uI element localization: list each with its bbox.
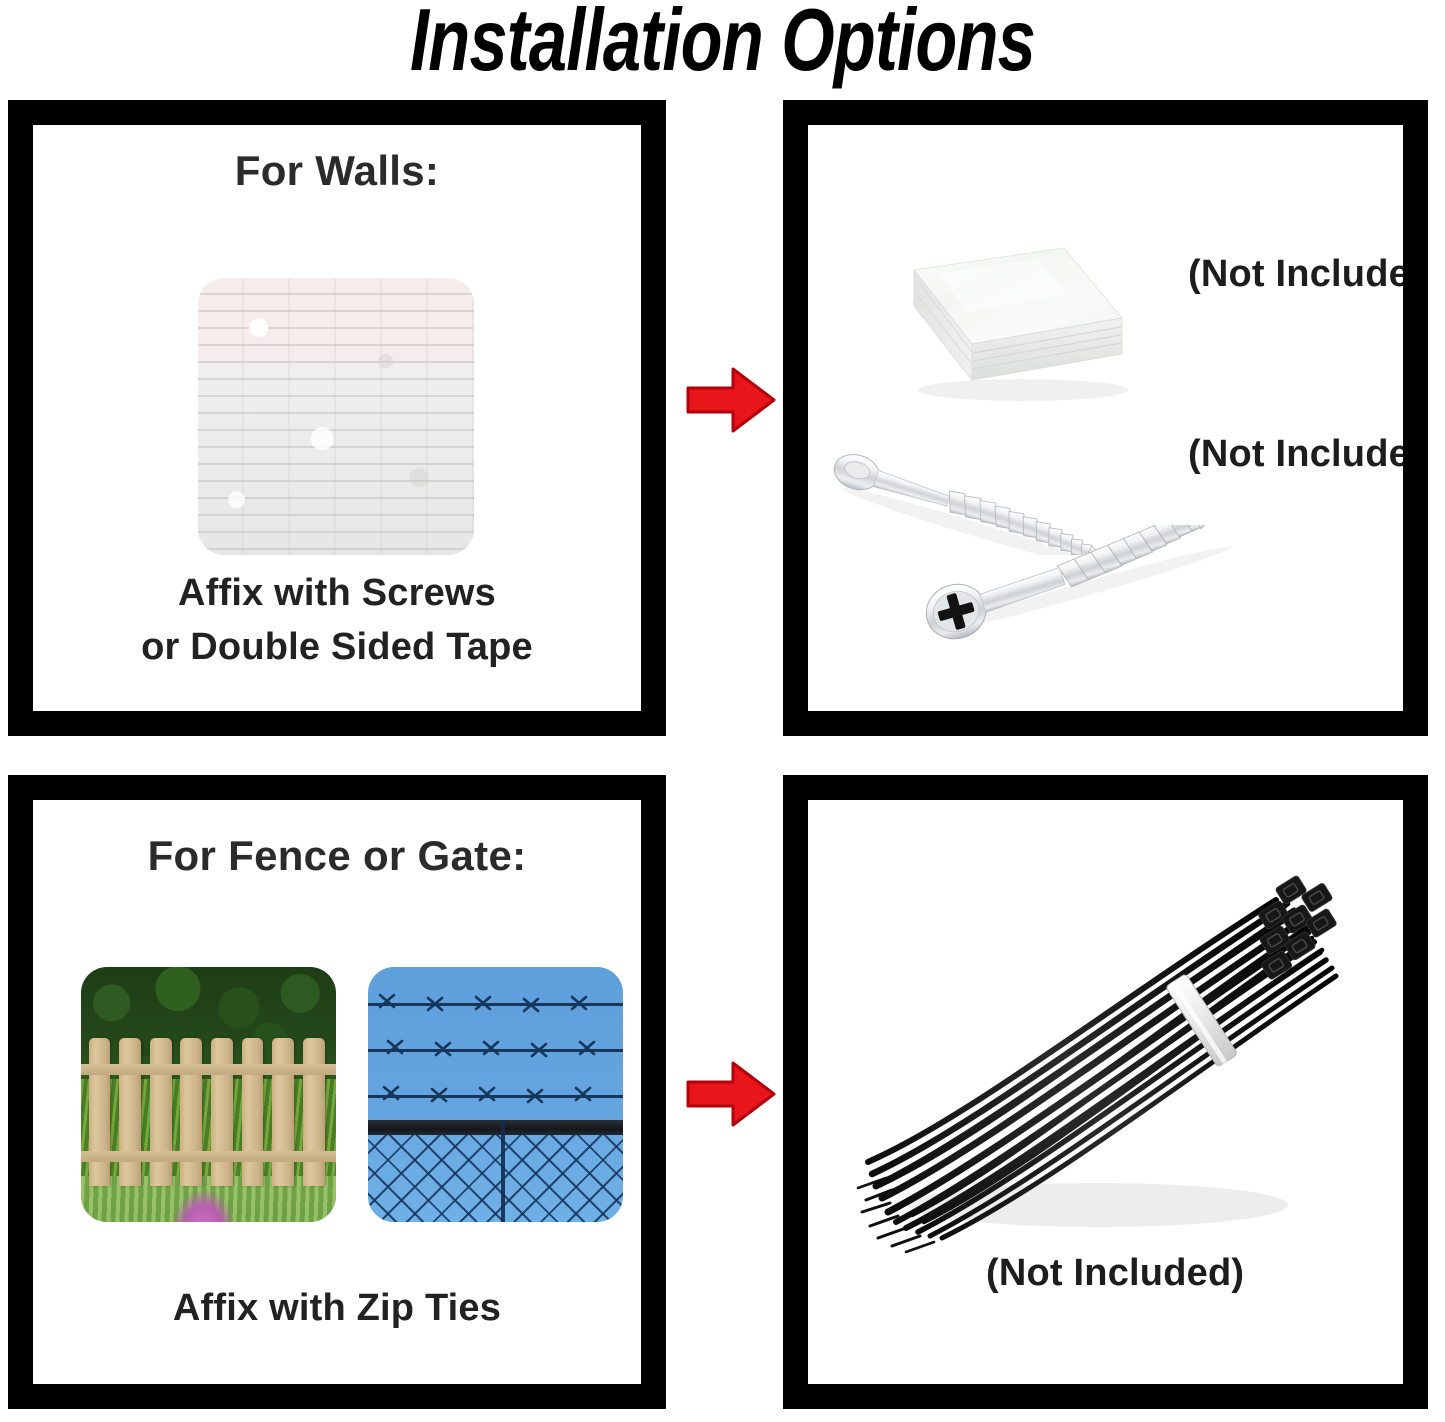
panel-zip-ties-inner: (Not Included): [808, 800, 1403, 1384]
wooden-picket-fence-image: [81, 967, 336, 1222]
installation-options-infographic: Installation Options For Walls: Affix wi…: [0, 0, 1445, 1422]
tape-not-included-label: (Not Included): [1188, 253, 1403, 296]
fence-picket: [211, 1038, 233, 1186]
fence-picket: [180, 1038, 202, 1186]
panel-wall-hardware-inner: (Not Included): [808, 125, 1403, 711]
panel-for-walls-inner: For Walls: Affix with Screws or Double S…: [33, 125, 641, 711]
for-fence-caption: Affix with Zip Ties: [33, 1282, 641, 1336]
brick-texture-overlay: [198, 278, 474, 555]
panel-wall-hardware: (Not Included): [783, 100, 1428, 736]
fence-rail: [81, 1151, 336, 1162]
page-title: Installation Options: [159, 0, 1286, 86]
zip-tie-bundle-image: [848, 860, 1348, 1260]
fence-picket: [272, 1038, 294, 1186]
fence-picket: [119, 1038, 141, 1186]
chain-link-mesh: [368, 1135, 623, 1222]
caption-line-1: Affix with Screws: [33, 567, 641, 621]
fence-picket: [89, 1038, 111, 1186]
panel-for-fence-or-gate: For Fence or Gate:: [8, 775, 666, 1409]
panel-for-walls: For Walls: Affix with Screws or Double S…: [8, 100, 666, 736]
screws-not-included-label: (Not Included): [1188, 433, 1403, 476]
chain-link-fence-image: [368, 967, 623, 1222]
panel-zip-ties: (Not Included): [783, 775, 1428, 1409]
caption-line-2: or Double Sided Tape: [33, 621, 641, 675]
fence-top-rail: [368, 1120, 623, 1135]
fence-rail: [81, 1064, 336, 1075]
wood-screw-image-2: [918, 525, 1258, 645]
panel-for-fence-or-gate-inner: For Fence or Gate:: [33, 800, 641, 1384]
double-sided-tape-image: [868, 240, 1138, 415]
ziptie-not-included-label: (Not Included): [986, 1252, 1244, 1295]
fence-picket: [303, 1038, 325, 1186]
for-walls-caption: Affix with Screws or Double Sided Tape: [33, 567, 641, 675]
for-fence-or-gate-heading: For Fence or Gate:: [33, 832, 641, 880]
white-brick-wall-image: [198, 278, 474, 555]
for-walls-heading: For Walls:: [33, 147, 641, 195]
fence-picket: [242, 1038, 264, 1186]
red-right-arrow-icon: [686, 1060, 776, 1128]
fence-picket: [150, 1038, 172, 1186]
red-right-arrow-icon: [686, 366, 776, 434]
fence-post: [501, 1120, 505, 1222]
